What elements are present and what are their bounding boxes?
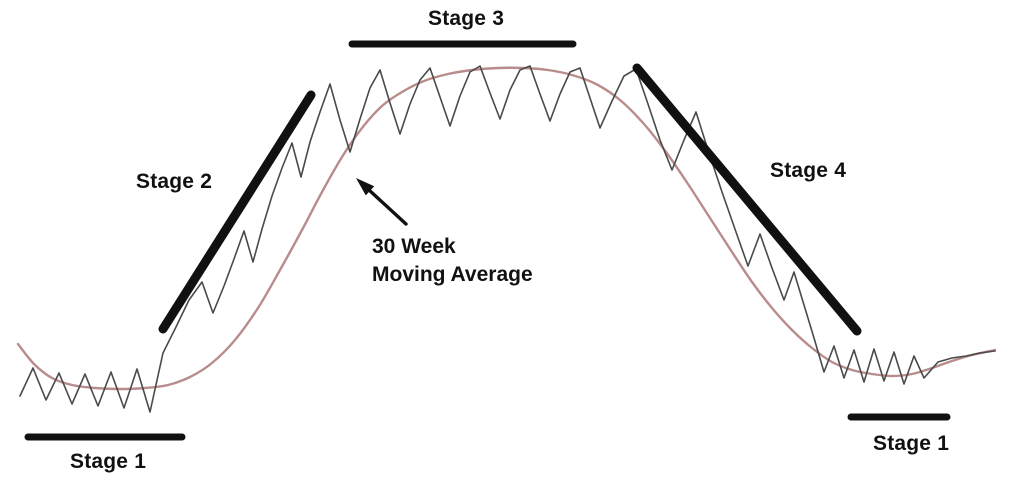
annotation-line-2: Moving Average bbox=[372, 261, 533, 289]
stage-3-label: Stage 3 bbox=[428, 7, 504, 32]
stage-1-left-label: Stage 1 bbox=[70, 450, 146, 475]
annotation-line-1: 30 Week bbox=[372, 233, 533, 261]
stage-1-right-label: Stage 1 bbox=[873, 432, 949, 457]
stage-4-label: Stage 4 bbox=[770, 159, 846, 184]
stage-2-label: Stage 2 bbox=[136, 170, 212, 195]
moving-average-annotation-label: 30 Week Moving Average bbox=[372, 233, 533, 288]
stage-analysis-chart: Stage 1 Stage 2 Stage 3 Stage 4 Stage 1 … bbox=[0, 0, 1024, 484]
